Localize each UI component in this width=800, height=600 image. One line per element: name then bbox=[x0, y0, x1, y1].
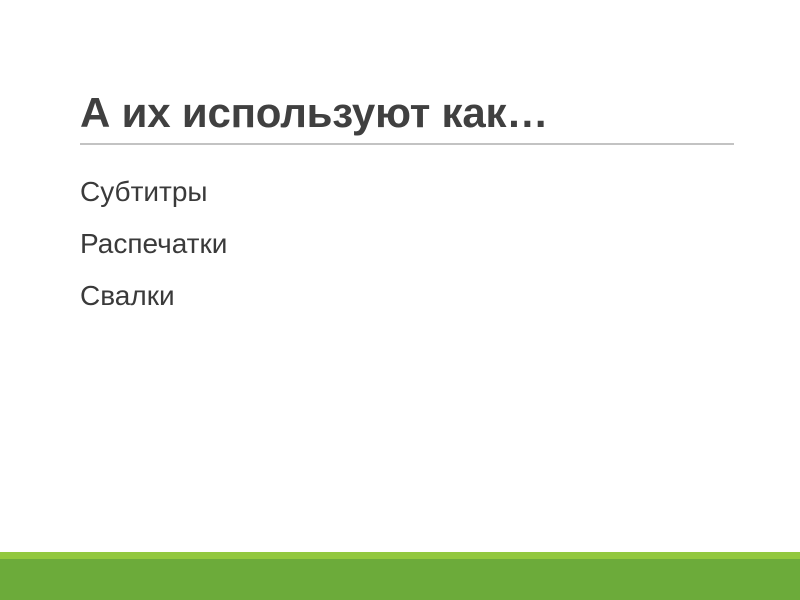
body-line: Субтитры bbox=[80, 166, 734, 218]
body-line: Распечатки bbox=[80, 218, 734, 270]
title-divider-rule bbox=[80, 143, 734, 145]
body-line: Свалки bbox=[80, 270, 734, 322]
footer-accent-light-band bbox=[0, 552, 800, 559]
footer-accent-dark-band bbox=[0, 559, 800, 600]
body-text-block: Субтитры Распечатки Свалки bbox=[80, 166, 734, 322]
title-block: А их используют как… bbox=[80, 88, 734, 145]
slide-title: А их используют как… bbox=[80, 88, 734, 138]
presentation-slide: А их используют как… Субтитры Распечатки… bbox=[0, 0, 800, 600]
